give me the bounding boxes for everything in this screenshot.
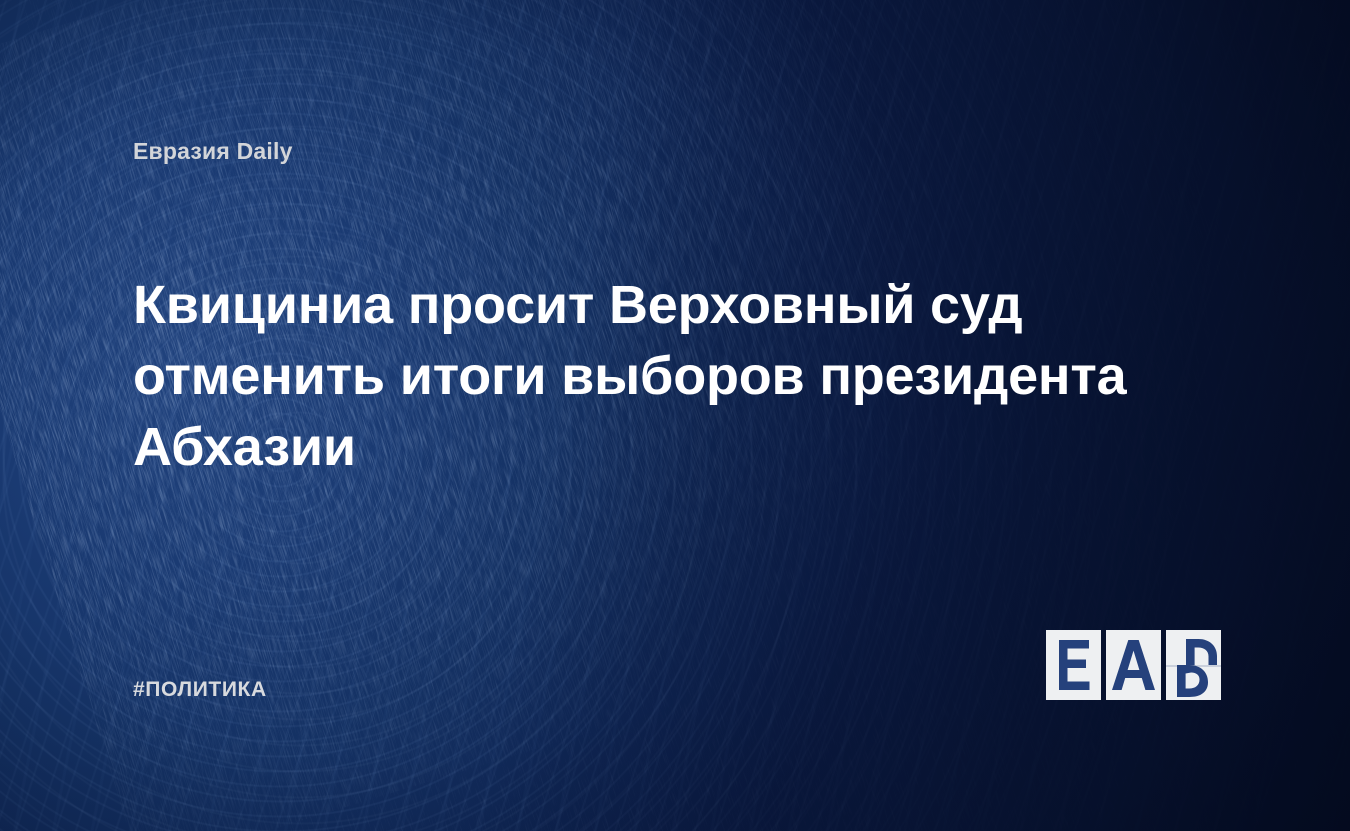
ead-logo[interactable]	[1046, 630, 1221, 700]
logo-tile-e	[1046, 630, 1101, 700]
letter-a-icon	[1106, 630, 1161, 700]
letter-d-split-icon	[1166, 630, 1221, 700]
brand-name: Евразия Daily	[133, 138, 293, 165]
category-hashtag[interactable]: #ПОЛИТИКА	[133, 678, 267, 702]
letter-e-icon	[1046, 630, 1101, 700]
logo-tile-d	[1166, 630, 1221, 700]
social-share-card: Евразия Daily Квициниа просит Верховный …	[0, 0, 1350, 831]
logo-tile-a	[1106, 630, 1161, 700]
headline: Квициниа просит Верховный суд отменить и…	[133, 270, 1153, 483]
